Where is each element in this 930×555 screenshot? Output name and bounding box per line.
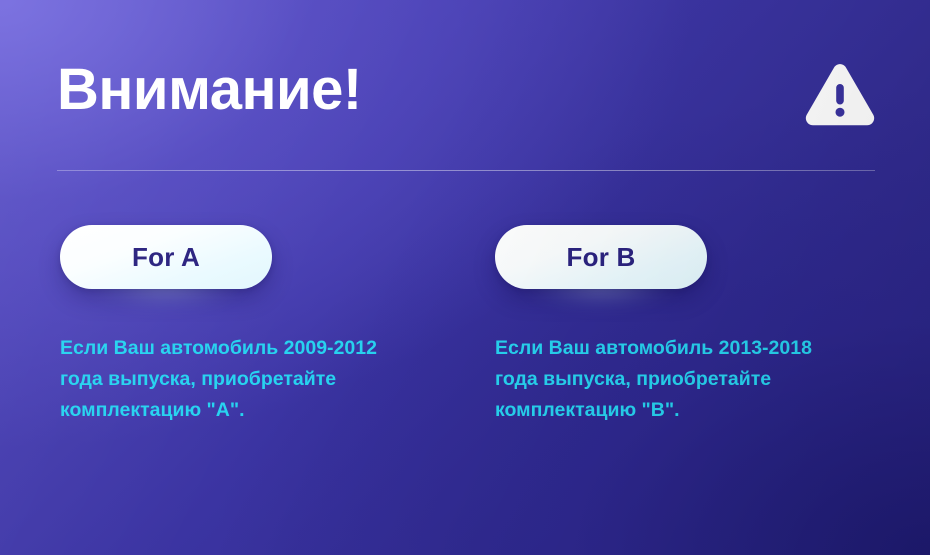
option-a-description: Если Ваш автомобиль 2009-2012 года выпус… bbox=[60, 333, 442, 426]
warning-triangle-icon bbox=[803, 62, 877, 132]
for-b-button[interactable]: For B bbox=[495, 225, 707, 289]
option-column-b: For B Если Ваш автомобиль 2013-2018 года… bbox=[495, 225, 905, 426]
for-a-button-wrapper: For A bbox=[60, 225, 272, 289]
for-b-button-wrapper: For B bbox=[495, 225, 707, 289]
page-title: Внимание! bbox=[57, 58, 362, 122]
header-divider bbox=[57, 170, 875, 171]
option-a-description-line-2: года выпуска, приобретайте bbox=[60, 364, 442, 395]
option-a-description-line-3: комплектацию "A". bbox=[60, 395, 442, 426]
option-b-description-line-2: года выпуска, приобретайте bbox=[495, 364, 877, 395]
for-a-button[interactable]: For A bbox=[60, 225, 272, 289]
attention-banner: Внимание! For A Если Ваш автомобиль 2009… bbox=[0, 0, 930, 555]
option-b-description-line-3: комплектацию "B". bbox=[495, 395, 877, 426]
option-b-description-line-1: Если Ваш автомобиль 2013-2018 bbox=[495, 333, 877, 364]
option-b-description: Если Ваш автомобиль 2013-2018 года выпус… bbox=[495, 333, 877, 426]
option-column-a: For A Если Ваш автомобиль 2009-2012 года… bbox=[60, 225, 470, 426]
option-a-description-line-1: Если Ваш автомобиль 2009-2012 bbox=[60, 333, 442, 364]
